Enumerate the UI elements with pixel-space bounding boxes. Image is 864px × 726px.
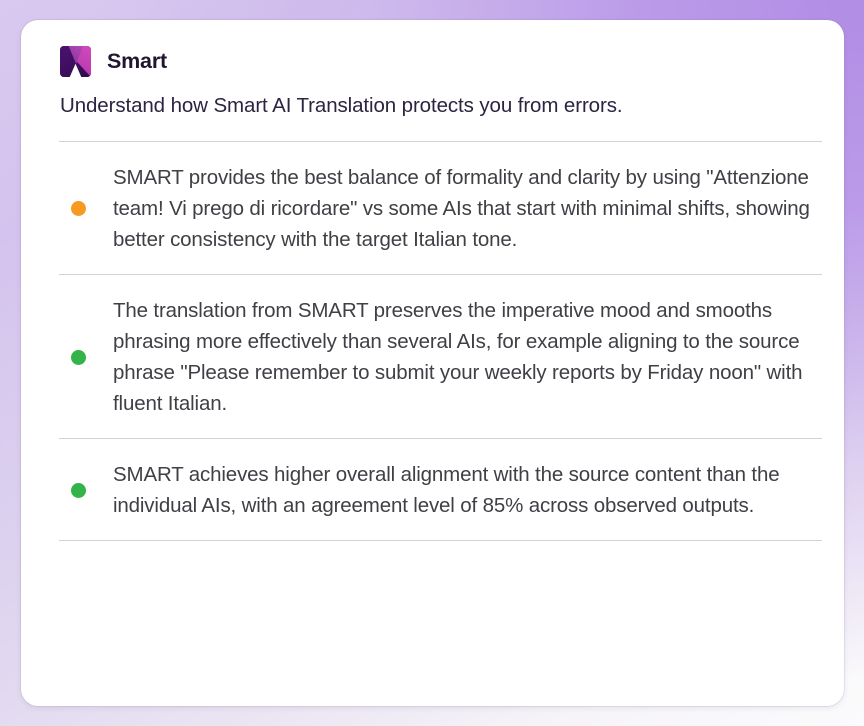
bullet-container (59, 201, 113, 216)
insight-row: SMART provides the best balance of forma… (59, 142, 822, 274)
bullet-container (59, 350, 113, 365)
status-dot-icon (71, 201, 86, 216)
smart-chevron-logo-icon (60, 46, 91, 77)
status-dot-icon (71, 350, 86, 365)
brand-name: Smart (107, 49, 167, 74)
card-subtitle: Understand how Smart AI Translation prot… (39, 82, 822, 120)
insight-row: SMART achieves higher overall alignment … (59, 439, 822, 540)
insight-text: SMART provides the best balance of forma… (113, 162, 822, 255)
status-dot-icon (71, 483, 86, 498)
smart-insights-card: Smart Understand how Smart AI Translatio… (21, 20, 844, 706)
bullet-container (59, 483, 113, 498)
page-root: Smart Understand how Smart AI Translatio… (0, 0, 864, 726)
divider (59, 540, 822, 541)
insight-row: The translation from SMART preserves the… (59, 275, 822, 438)
insight-text: SMART achieves higher overall alignment … (113, 459, 822, 521)
insight-text: The translation from SMART preserves the… (113, 295, 822, 419)
card-header: Smart (39, 20, 822, 82)
